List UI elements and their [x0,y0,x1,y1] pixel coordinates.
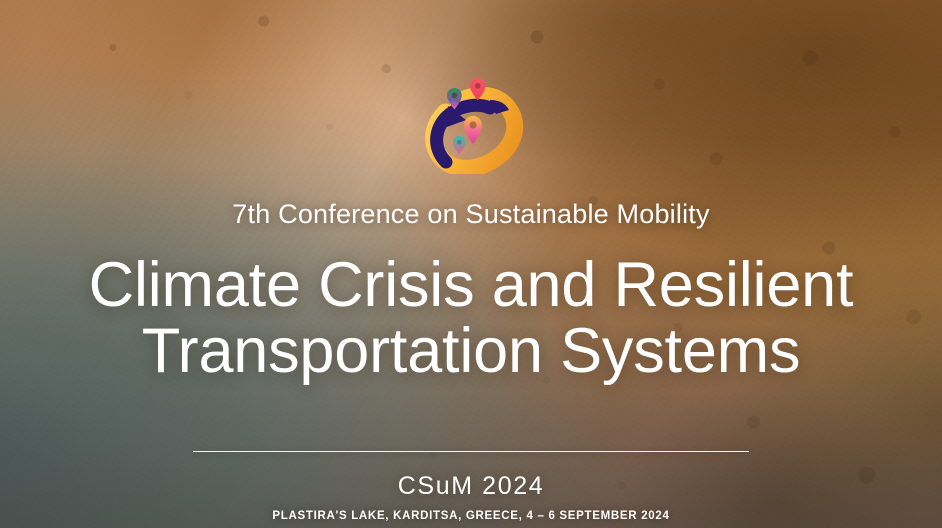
event-name: CSuM 2024 [398,472,544,501]
page-title-line-2: Transportation Systems [89,318,854,385]
conference-title-slide: 7th Conference on Sustainable Mobility C… [0,0,942,528]
conference-subtitle: 7th Conference on Sustainable Mobility [232,200,709,230]
logo-pin-teal [453,136,466,154]
divider [193,451,749,452]
csum-logo [416,70,526,174]
page-title: Climate Crisis and Resilient Transportat… [89,252,854,386]
venue-and-dates: PLASTIRA'S LAKE, KARDITSA, GREECE, 4 – 6… [272,510,669,522]
slide-content: 7th Conference on Sustainable Mobility C… [0,0,942,528]
logo-pin-orange [464,116,482,144]
page-title-line-1: Climate Crisis and Resilient [89,252,854,319]
